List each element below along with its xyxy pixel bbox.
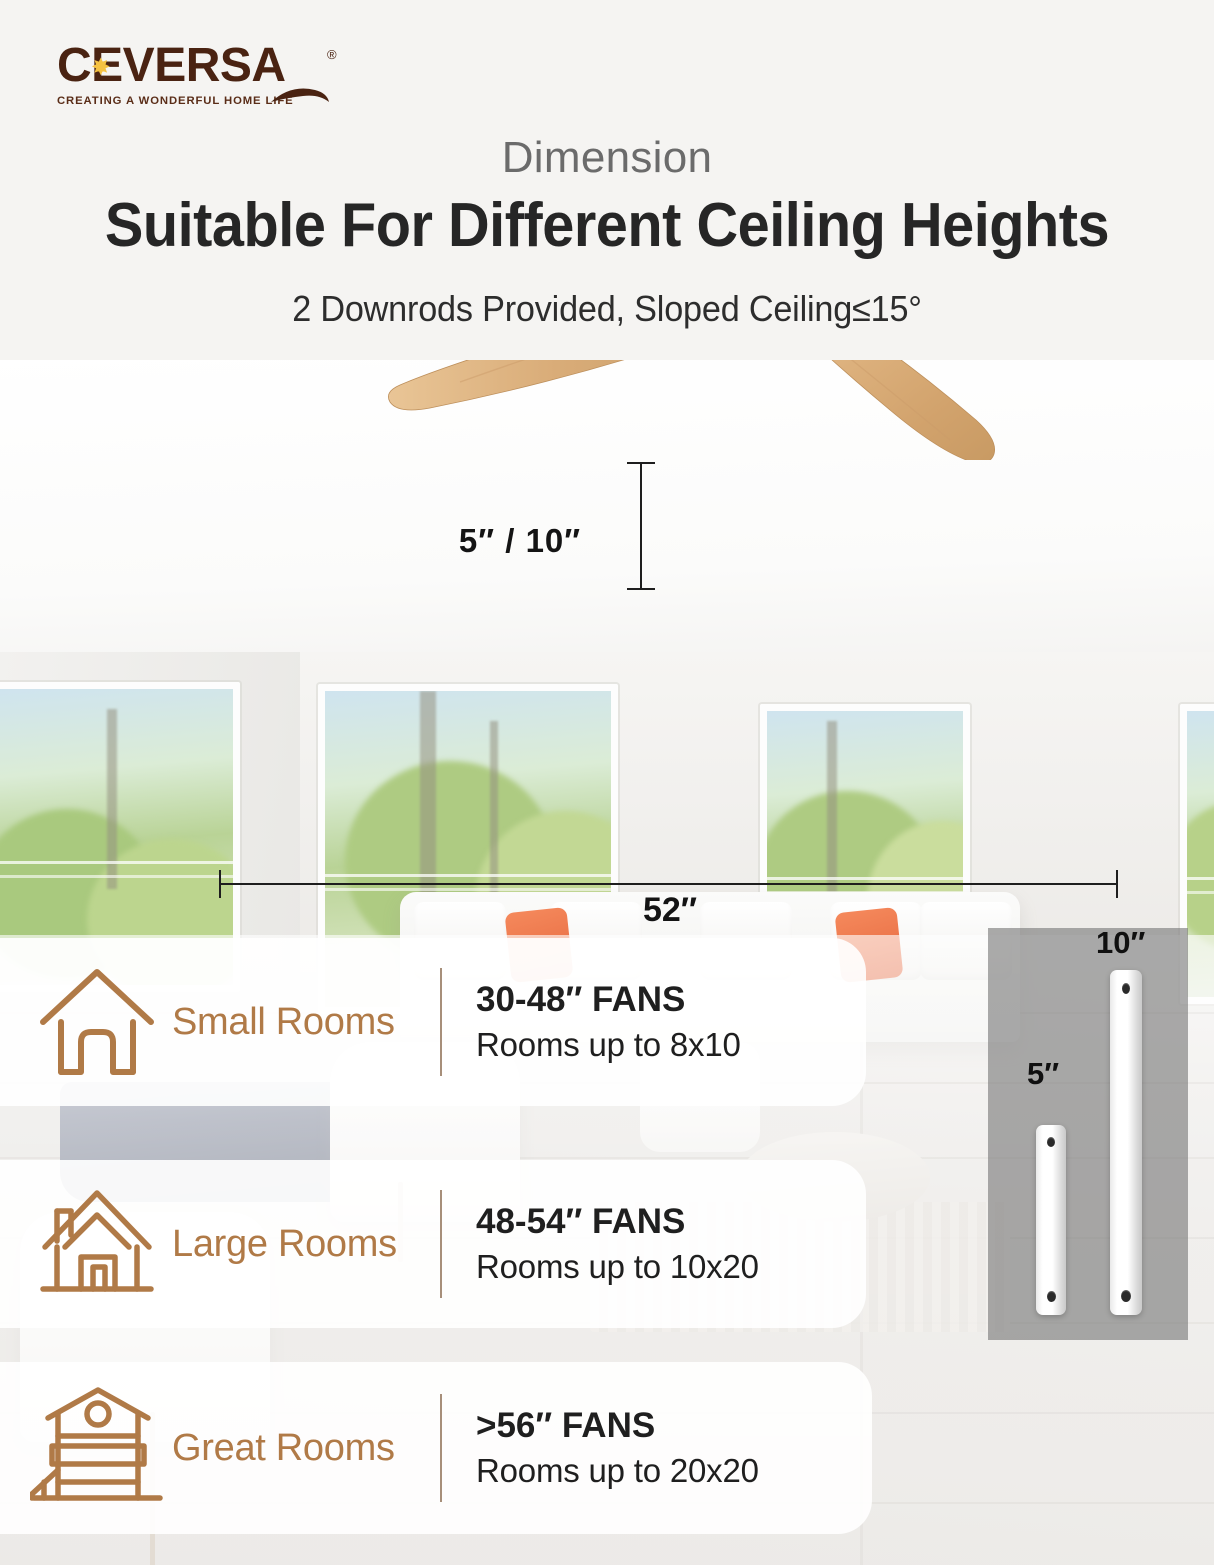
room-area-small: Rooms up to 8x10 — [476, 1026, 741, 1064]
room-size-card-large[interactable]: Large Rooms 48-54″ FANS Rooms up to 10x2… — [0, 1160, 866, 1328]
header: CEVERSA ✸ ® CREATING A WONDERFUL HOME LI… — [0, 0, 1214, 360]
page-title: Suitable For Different Ceiling Heights — [42, 190, 1171, 261]
page-subtitle: 2 Downrods Provided, Sloped Ceiling≤15° — [30, 288, 1183, 330]
room-area-great: Rooms up to 20x20 — [476, 1452, 759, 1490]
card-divider — [440, 1190, 442, 1298]
barn-house-icon — [22, 1384, 172, 1512]
downrod-5-inch-label: 5″ — [1027, 1056, 1059, 1092]
registered-mark: ® — [327, 48, 336, 61]
room-size-label-large: Large Rooms — [172, 1223, 440, 1266]
eyebrow-heading: Dimension — [0, 133, 1214, 183]
card-divider — [440, 968, 442, 1076]
downrod-10-inch-label: 10″ — [1096, 925, 1145, 961]
room-size-card-great[interactable]: Great Rooms >56″ FANS Rooms up to 20x20 — [0, 1362, 872, 1534]
downrod-5-inch — [1036, 1125, 1066, 1315]
swoosh-icon — [269, 82, 331, 108]
room-area-large: Rooms up to 10x20 — [476, 1248, 759, 1286]
house-gable-icon — [22, 1185, 172, 1303]
room-size-label-small: Small Rooms — [172, 1001, 440, 1044]
blade-span-line — [220, 883, 1118, 885]
fan-size-range-large: 48-54″ FANS — [476, 1202, 759, 1242]
blade-span-label: 52″ — [570, 891, 770, 930]
downrod-inset-panel — [988, 928, 1188, 1340]
blade-span-cap-right — [1116, 870, 1118, 898]
downrod-dimension-cap-bottom — [627, 588, 655, 590]
brand-wordmark: CEVERSA ✸ ® — [57, 42, 327, 90]
card-divider — [440, 1394, 442, 1502]
fan-size-range-great: >56″ FANS — [476, 1406, 759, 1446]
brand-logo[interactable]: CEVERSA ✸ ® CREATING A WONDERFUL HOME LI… — [57, 42, 327, 107]
sun-accent-icon: ✸ — [92, 59, 109, 76]
room-size-card-small[interactable]: Small Rooms 30-48″ FANS Rooms up to 8x10 — [0, 938, 866, 1106]
downrod-10-inch — [1110, 970, 1142, 1315]
downrod-dimension-label: 5″ / 10″ — [420, 522, 620, 560]
infographic-page: 5″ / 10″ 52″ 5″ 10″ — [0, 0, 1214, 1565]
fan-size-range-small: 30-48″ FANS — [476, 980, 741, 1020]
downrod-dimension-line — [640, 463, 642, 590]
room-size-label-great: Great Rooms — [172, 1427, 440, 1470]
house-simple-icon — [22, 966, 172, 1078]
